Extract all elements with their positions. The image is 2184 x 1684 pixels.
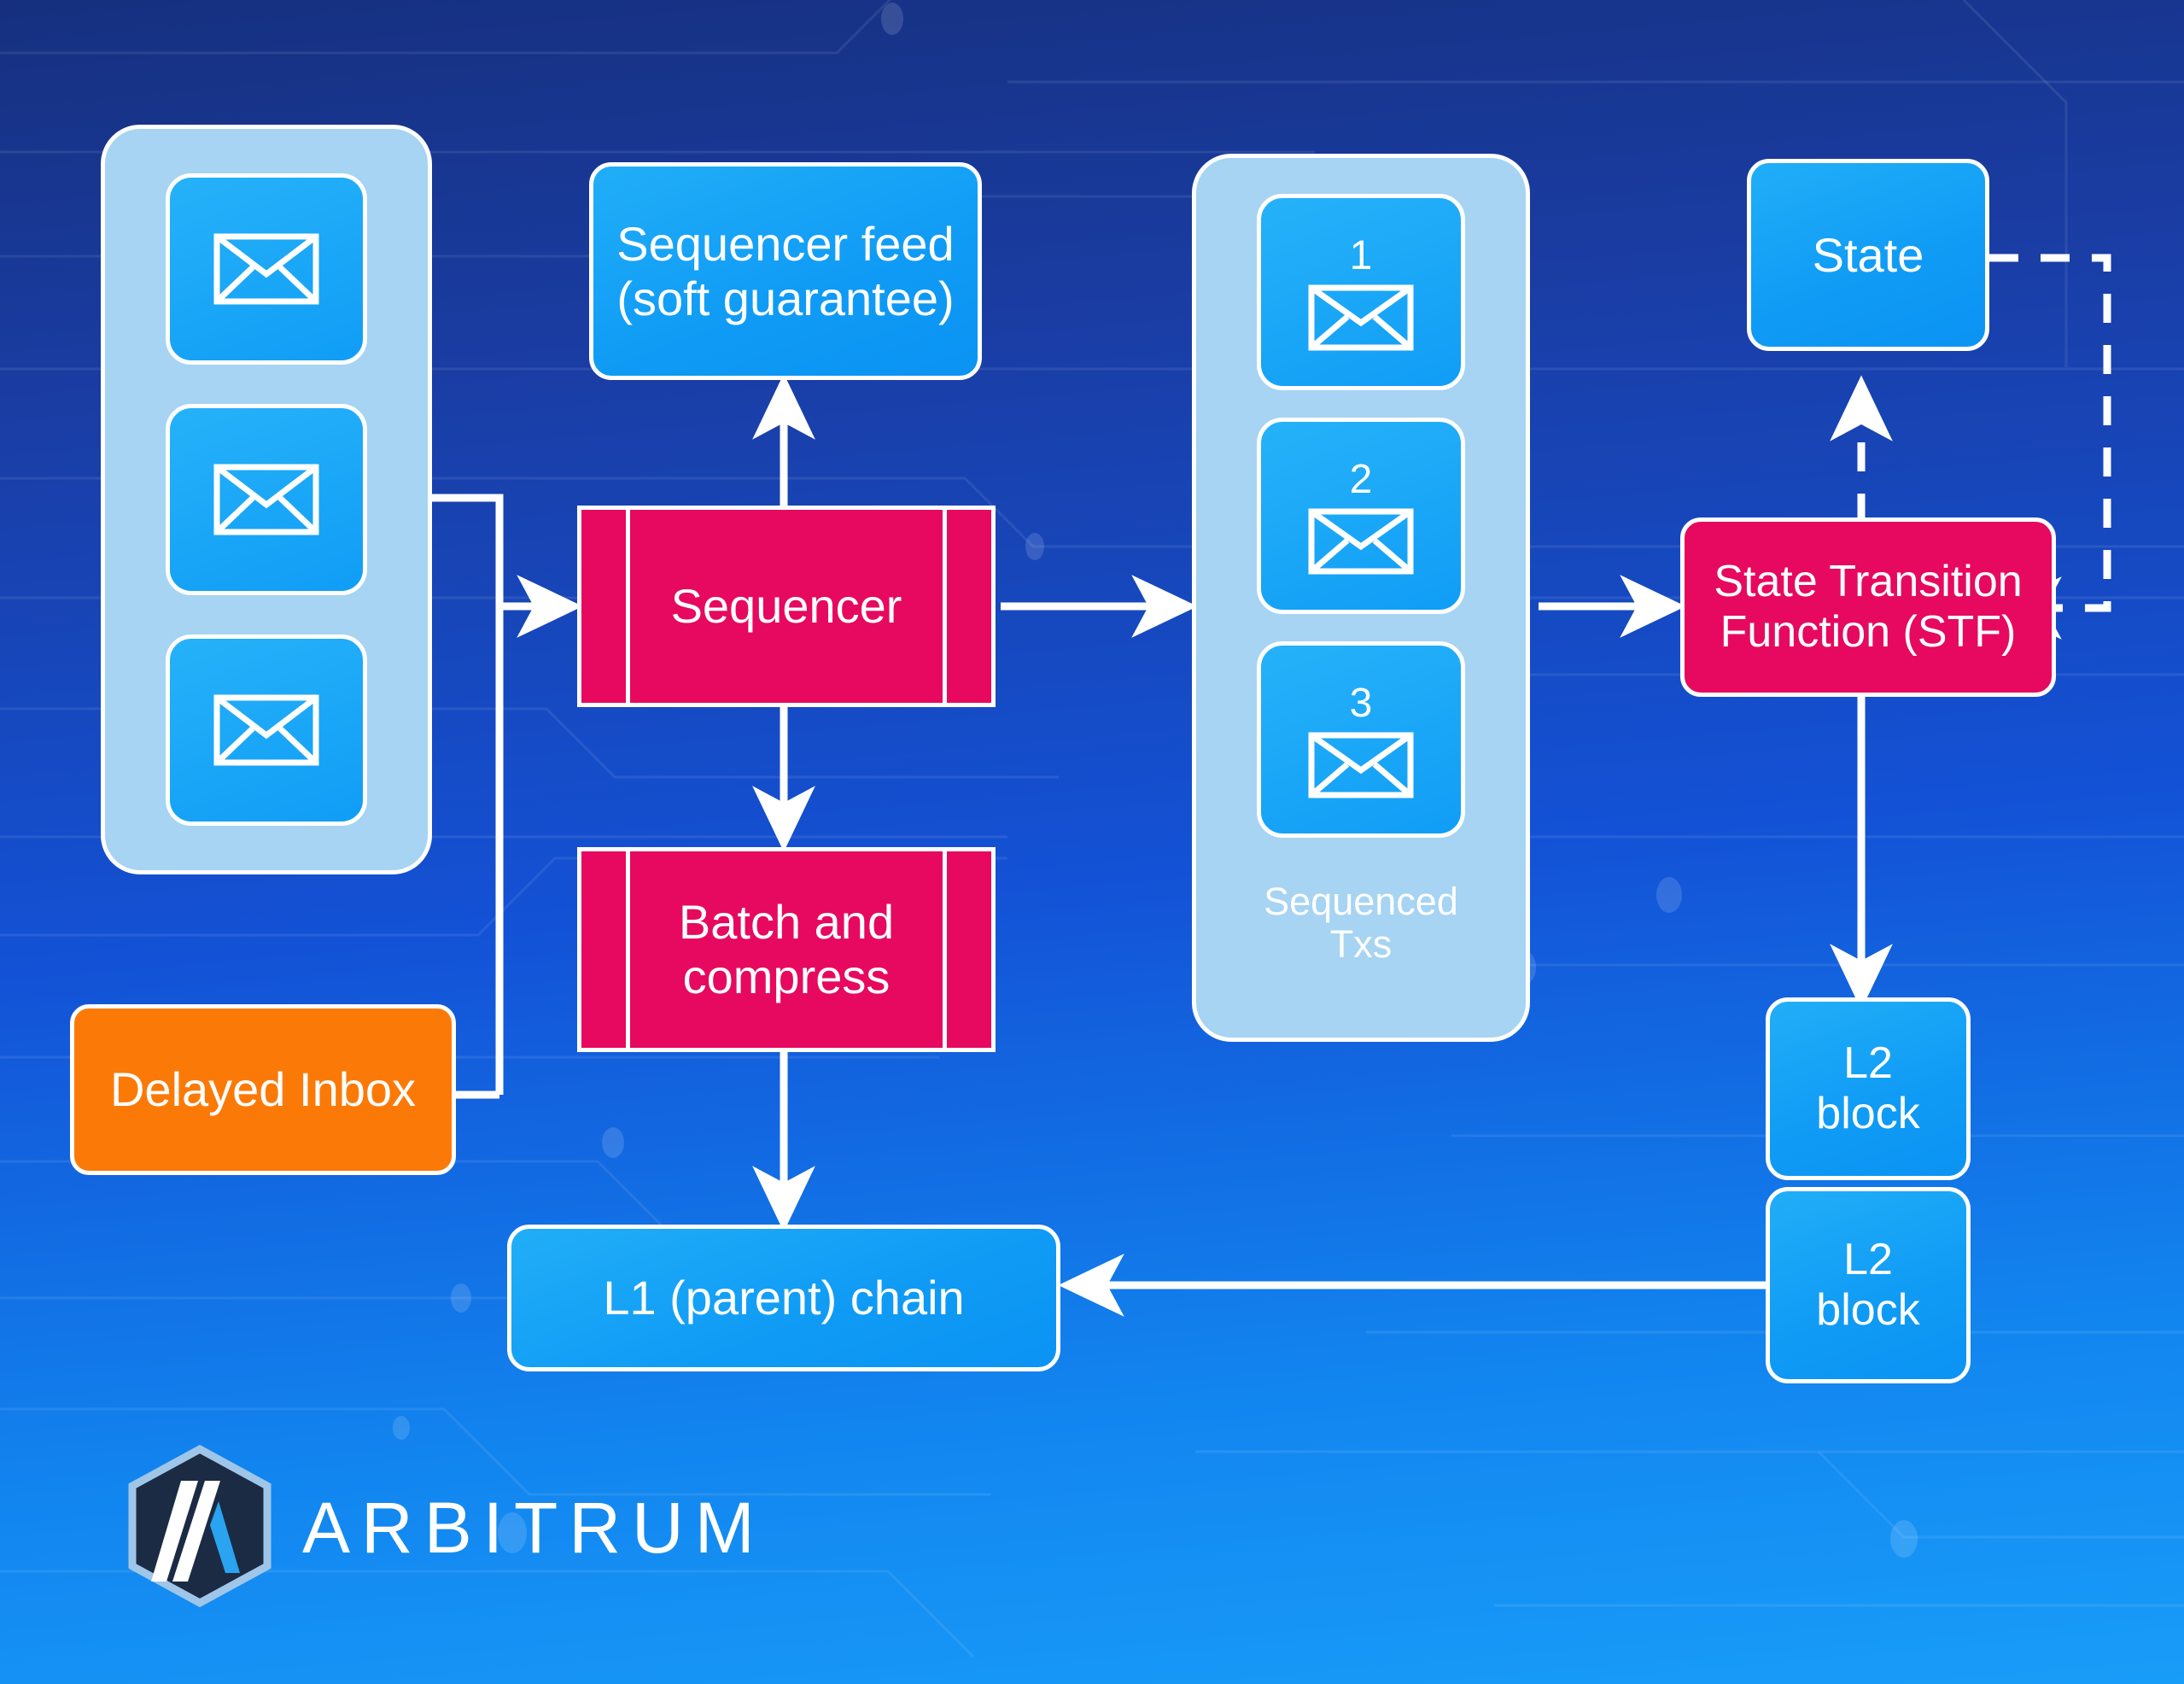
- film-bar-left: [626, 510, 630, 703]
- inbox-message-1[interactable]: [166, 173, 367, 365]
- sequenced-txs-caption: Sequenced Txs: [1264, 880, 1458, 965]
- l2-block-1-line2: block: [1816, 1089, 1919, 1139]
- l2-block-2-line2: block: [1816, 1285, 1919, 1336]
- batch-line2: compress: [683, 950, 891, 1004]
- sequencer-label: Sequencer: [671, 579, 902, 634]
- sequencer-feed-line1: Sequencer feed: [616, 217, 954, 272]
- sequenced-tx-2[interactable]: 2: [1257, 418, 1465, 614]
- stf-line2: Function (STF): [1720, 607, 2017, 658]
- sequenced-tx-3[interactable]: 3: [1257, 641, 1465, 838]
- envelope-icon: [1308, 508, 1414, 575]
- diagram-canvas: Sequencer feed (soft guarantee) Sequence…: [0, 0, 2184, 1684]
- arbitrum-brand-lockup: ARBITRUM: [126, 1445, 766, 1611]
- l1-parent-chain-box[interactable]: L1 (parent) chain: [507, 1225, 1060, 1371]
- inbox-message-3[interactable]: [166, 634, 367, 826]
- l2-block-1-line1: L2: [1843, 1038, 1893, 1089]
- sequenced-tx-number: 2: [1350, 457, 1373, 504]
- batch-and-compress-box[interactable]: Batch and compress: [577, 847, 996, 1052]
- sequencer-feed-line2: (soft guarantee): [616, 272, 954, 326]
- l2-block-2[interactable]: L2 block: [1766, 1187, 1971, 1383]
- sequenced-tx-number: 1: [1350, 233, 1373, 280]
- delayed-inbox-box[interactable]: Delayed Inbox: [70, 1004, 456, 1175]
- state-label: State: [1813, 228, 1924, 283]
- sequencer-box[interactable]: Sequencer: [577, 506, 996, 707]
- sequenced-tx-number: 3: [1350, 681, 1373, 728]
- film-bar-left: [626, 851, 630, 1048]
- arbitrum-hex-logo-icon: [126, 1445, 273, 1611]
- envelope-icon: [1308, 732, 1414, 798]
- delayed-inbox-label: Delayed Inbox: [110, 1062, 416, 1117]
- state-box[interactable]: State: [1747, 159, 1989, 351]
- sequenced-txs-caption-line1: Sequenced: [1264, 880, 1458, 923]
- envelope-icon: [1308, 284, 1414, 351]
- l2-block-2-line1: L2: [1843, 1235, 1893, 1285]
- l1-chain-label: L1 (parent) chain: [603, 1271, 964, 1325]
- batch-line1: Batch and: [679, 895, 894, 950]
- inbox-stack: [101, 125, 432, 874]
- state-transition-function-box[interactable]: State Transition Function (STF): [1680, 517, 2056, 697]
- film-bar-right: [943, 510, 947, 703]
- stf-line1: State Transition: [1714, 557, 2022, 607]
- sequenced-tx-1[interactable]: 1: [1257, 194, 1465, 390]
- sequencer-feed-box[interactable]: Sequencer feed (soft guarantee): [589, 162, 982, 380]
- envelope-icon: [213, 694, 319, 766]
- inbox-message-2[interactable]: [166, 404, 367, 595]
- envelope-icon: [213, 464, 319, 535]
- envelope-icon: [213, 233, 319, 305]
- sequenced-txs-caption-line2: Txs: [1330, 922, 1393, 966]
- arbitrum-wordmark: ARBITRUM: [302, 1487, 766, 1570]
- l2-block-1[interactable]: L2 block: [1766, 997, 1971, 1180]
- sequenced-txs-stack: 1 2 3: [1192, 154, 1530, 1042]
- film-bar-right: [943, 851, 947, 1048]
